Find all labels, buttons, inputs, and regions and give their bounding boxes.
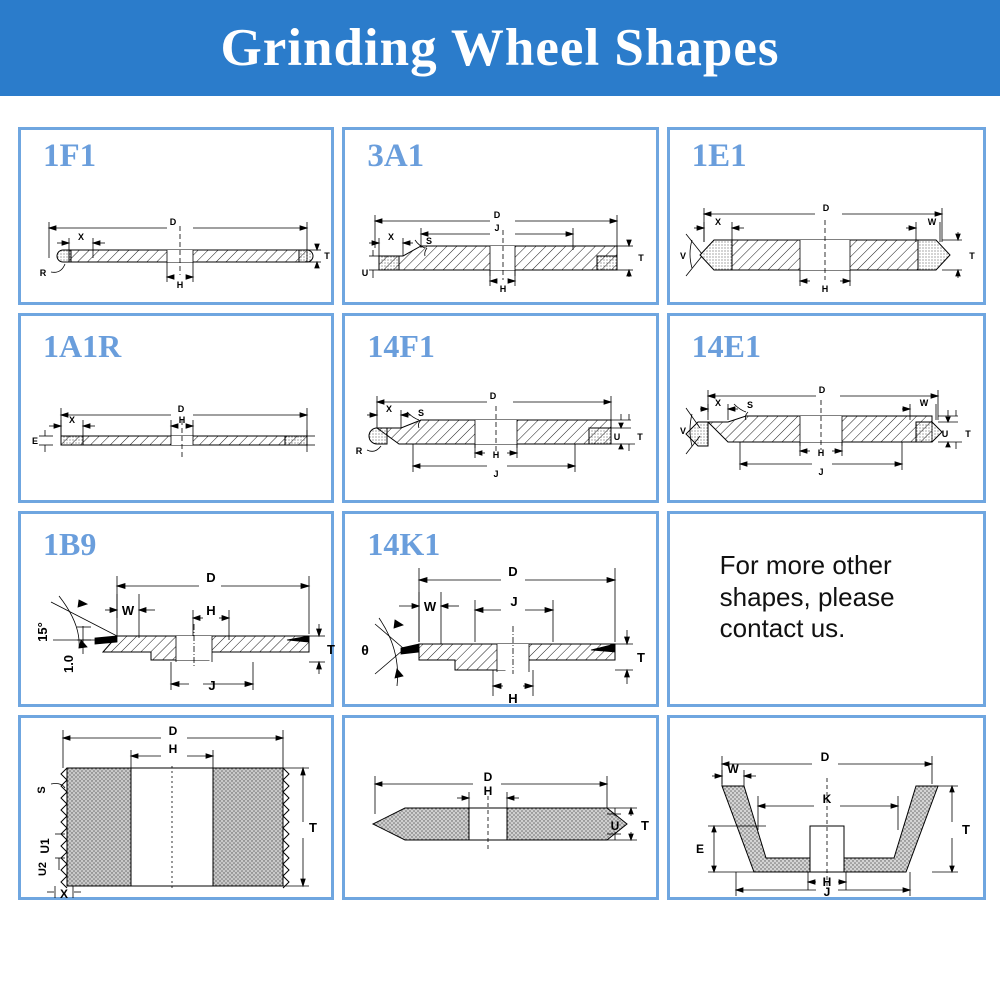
dim-label-S: S: [418, 408, 424, 418]
dim-label-J: J: [494, 469, 499, 479]
diagram-1e1: D X W V H T: [670, 130, 983, 302]
shape-card-3a1[interactable]: 3A1: [342, 127, 658, 305]
dim-label-X: X: [715, 217, 721, 227]
dim-label-X: X: [388, 232, 394, 242]
diagram-14e1: D X S V W H J U T: [670, 316, 983, 500]
dim-label-D: D: [206, 570, 215, 585]
dim-label-W: W: [424, 599, 437, 614]
dim-label-U2: U2: [37, 862, 49, 876]
dim-label-H: H: [206, 603, 215, 618]
page-title: Grinding Wheel Shapes: [221, 18, 780, 78]
dim-label-J: J: [495, 223, 500, 233]
dim-label-theta: θ: [362, 642, 370, 658]
shape-card-14f1[interactable]: 14F1: [342, 313, 658, 503]
dim-label-U: U: [941, 429, 948, 439]
dim-label-X: X: [715, 398, 721, 408]
dim-label-J: J: [823, 885, 830, 899]
dim-label-T: T: [638, 432, 644, 442]
dim-label-W: W: [122, 603, 135, 618]
shape-card-14e1[interactable]: 14E1: [667, 313, 986, 503]
dim-label-E: E: [32, 436, 38, 446]
shape-card-note[interactable]: For more other shapes, please contact us…: [667, 511, 986, 707]
dim-label-H: H: [500, 284, 507, 294]
dim-label-W: W: [727, 762, 739, 776]
shape-card-14k1[interactable]: 14K1: [342, 511, 658, 707]
dim-label-X: X: [60, 887, 68, 901]
dim-label-T: T: [969, 251, 975, 261]
dim-label-S: S: [36, 786, 48, 793]
dim-label-D: D: [509, 564, 518, 579]
dim-label-D: D: [818, 385, 825, 395]
diagram-double-bevel: D H U T: [345, 718, 655, 897]
dim-label-H: H: [179, 415, 186, 425]
dim-label-V: V: [680, 251, 686, 261]
diagram-14f1: D X S R H J U T: [345, 316, 655, 500]
dim-label-T: T: [324, 251, 330, 261]
dim-label-J: J: [818, 467, 823, 477]
dim-label-D: D: [820, 750, 829, 764]
shape-card-1a1r[interactable]: 1A1R: [18, 313, 334, 503]
diagram-threaded: D H T S U1 U2 X: [21, 718, 331, 897]
dim-label-D: D: [170, 217, 177, 227]
shape-card-1f1[interactable]: 1F1: [18, 127, 334, 305]
dim-label-D: D: [494, 210, 501, 220]
shape-card-1b9[interactable]: 1B9: [18, 511, 334, 707]
page-header: Grinding Wheel Shapes: [0, 0, 1000, 96]
dim-label-X: X: [69, 415, 75, 425]
dim-label-W: W: [927, 217, 936, 227]
shape-card-1e1[interactable]: 1E1: [667, 127, 986, 305]
dim-label-T: T: [309, 820, 317, 835]
dim-label-E: E: [696, 842, 704, 856]
dim-label-T: T: [639, 253, 645, 263]
dim-label-H: H: [509, 691, 518, 706]
dim-label-1-0: 1.0: [61, 655, 76, 673]
dim-label-T: T: [327, 642, 335, 657]
dim-label-H: H: [484, 784, 493, 798]
diagram-3a1: D J X S U H T: [345, 130, 655, 302]
dim-label-H: H: [493, 450, 500, 460]
dim-label-D: D: [822, 203, 829, 213]
dim-label-T: T: [637, 650, 645, 665]
dim-label-D: D: [178, 404, 185, 414]
dim-label-D: D: [169, 724, 178, 738]
dim-label-H: H: [821, 284, 828, 294]
shapes-grid: 1F1: [18, 127, 986, 908]
shape-card-flaring-cup[interactable]: D W K E H J T: [667, 715, 986, 900]
shape-card-double-bevel[interactable]: D H U T: [342, 715, 658, 900]
dim-label-X: X: [78, 232, 84, 242]
shape-card-threaded[interactable]: D H T S U1 U2 X: [18, 715, 334, 900]
grid-row-3: 1B9: [18, 511, 986, 707]
dim-label-H: H: [817, 448, 824, 458]
dim-label-R: R: [40, 268, 47, 278]
grid-row-2: 1A1R: [18, 313, 986, 503]
dim-label-T: T: [641, 818, 649, 833]
dim-label-H: H: [169, 742, 178, 756]
dim-label-X: X: [386, 404, 392, 414]
dim-label-U1: U1: [38, 838, 52, 854]
dim-label-H: H: [177, 280, 184, 290]
dim-label-D: D: [490, 391, 497, 401]
dim-label-S: S: [747, 400, 753, 410]
dim-label-W: W: [919, 398, 928, 408]
dim-label-U: U: [611, 819, 620, 833]
dim-label-K: K: [822, 792, 831, 806]
dim-label-R: R: [356, 446, 363, 456]
grid-row-4: D H T S U1 U2 X: [18, 715, 986, 900]
diagram-1a1r: D X H E: [21, 316, 331, 500]
dim-label-V: V: [680, 426, 686, 436]
contact-note: For more other shapes, please contact us…: [720, 550, 960, 645]
diagram-1b9: D W H J T 15° 1.0: [21, 514, 331, 704]
dim-label-T: T: [965, 429, 971, 439]
diagram-1f1: D X H T R: [21, 130, 331, 302]
diagram-flaring-cup: D W K E H J T: [670, 718, 983, 897]
dim-label-J: J: [511, 594, 518, 609]
dim-label-J: J: [208, 678, 215, 693]
dim-label-15deg: 15°: [35, 622, 50, 642]
grid-row-1: 1F1: [18, 127, 986, 305]
dim-label-T: T: [962, 822, 970, 837]
dim-label-S: S: [426, 236, 432, 246]
dim-label-U: U: [614, 432, 621, 442]
dim-label-U: U: [362, 268, 369, 278]
dim-label-D: D: [484, 770, 493, 784]
page-root: Grinding Wheel Shapes 1F1: [0, 0, 1000, 1000]
diagram-14k1: D W J H T θ: [345, 514, 655, 704]
